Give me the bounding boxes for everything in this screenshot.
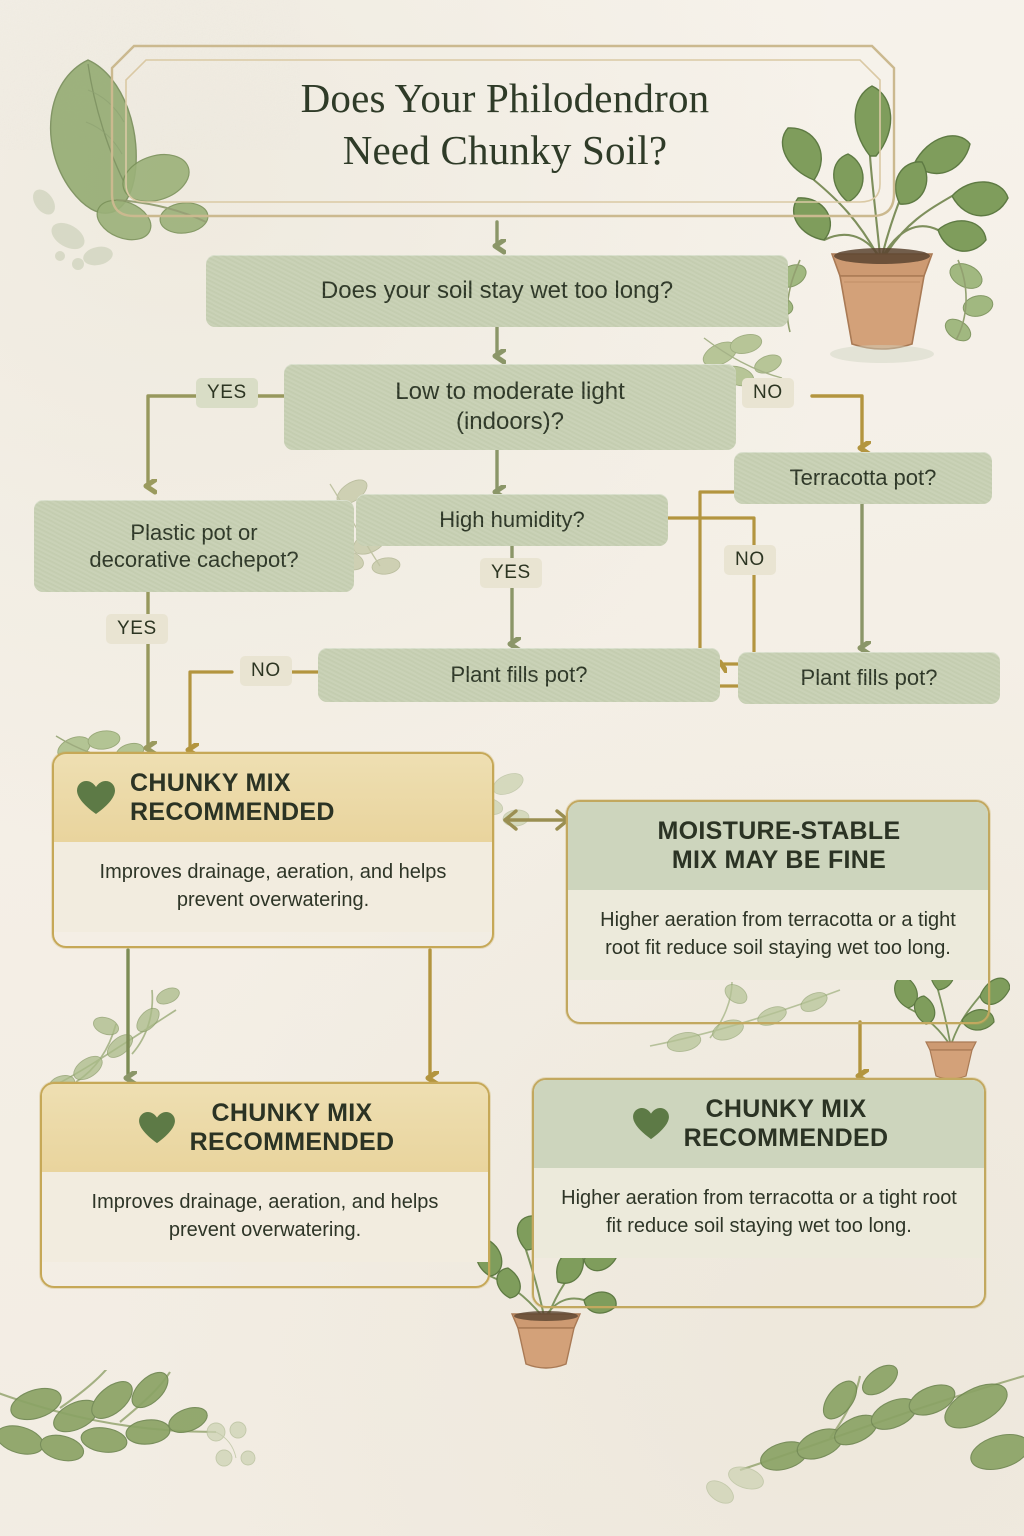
- decision-node-soil-wet-label: Does your soil stay wet too long?: [321, 276, 673, 306]
- decision-node-plastic-cachepot[interactable]: Plastic pot or decorative cachepot?: [34, 500, 354, 592]
- result-card-moisture-stable[interactable]: MOISTURE-STABLE MIX MAY BE FINE Higher a…: [566, 800, 990, 1024]
- edge-label-yes-light-text: YES: [207, 382, 247, 404]
- decision-node-light-label-line1: Low to moderate light: [395, 377, 624, 407]
- heart-icon: [76, 780, 116, 816]
- result-card-moisture-stable-title: MOISTURE-STABLE MIX MAY BE FINE: [658, 817, 901, 876]
- decision-node-plant-fills-pot-right-label: Plant fills pot?: [801, 664, 938, 692]
- result-title-line-2: RECOMMENDED: [190, 1128, 395, 1157]
- decision-node-terracotta-pot[interactable]: Terracotta pot?: [734, 452, 992, 504]
- edge-label-no-plant-fills: NO: [240, 656, 292, 686]
- result-card-chunky-mix-bottom-right-title: CHUNKY MIX RECOMMENDED: [684, 1095, 889, 1154]
- decision-node-plant-fills-pot-left-label: Plant fills pot?: [451, 661, 588, 689]
- edge-label-yes-cachepot: YES: [106, 614, 168, 644]
- edge-label-no-humidity-text: NO: [735, 549, 765, 571]
- page-title: Does Your Philodendron Need Chunky Soil?: [130, 72, 880, 177]
- botanical-bottom-right: [680, 1360, 1024, 1536]
- result-card-chunky-mix-primary[interactable]: CHUNKY MIX RECOMMENDED Improves drainage…: [52, 752, 494, 948]
- decision-node-plant-fills-pot-right[interactable]: Plant fills pot?: [738, 652, 1000, 704]
- result-card-chunky-mix-bottom-left[interactable]: CHUNKY MIX RECOMMENDED Improves drainage…: [40, 1082, 490, 1288]
- decision-node-plastic-cachepot-label-line2: decorative cachepot?: [89, 546, 298, 574]
- edge-label-no-humidity: NO: [724, 545, 776, 575]
- result-card-chunky-mix-primary-header: CHUNKY MIX RECOMMENDED: [54, 754, 492, 842]
- result-card-chunky-mix-bottom-left-title: CHUNKY MIX RECOMMENDED: [190, 1099, 395, 1158]
- edge-label-yes-humidity: YES: [480, 558, 542, 588]
- heart-icon: [632, 1107, 670, 1141]
- result-card-chunky-mix-bottom-right-header: CHUNKY MIX RECOMMENDED: [534, 1080, 984, 1168]
- result-card-chunky-mix-bottom-right-body: Higher aeration from terracotta or a tig…: [534, 1168, 984, 1259]
- infographic-page: Does Your Philodendron Need Chunky Soil?: [0, 0, 1024, 1536]
- result-card-moisture-stable-body: Higher aeration from terracotta or a tig…: [568, 890, 988, 981]
- result-title-line-1: CHUNKY MIX: [684, 1095, 889, 1124]
- result-card-chunky-mix-primary-body: Improves drainage, aeration, and helps p…: [54, 842, 492, 933]
- decision-node-soil-wet[interactable]: Does your soil stay wet too long?: [206, 255, 788, 327]
- result-title-line-1: CHUNKY MIX: [190, 1099, 395, 1128]
- edge-label-yes-light: YES: [196, 378, 258, 408]
- result-title-line-1: MOISTURE-STABLE: [658, 817, 901, 846]
- decision-node-plastic-cachepot-label-line1: Plastic pot or: [130, 519, 257, 547]
- result-card-chunky-mix-bottom-left-body: Improves drainage, aeration, and helps p…: [42, 1172, 488, 1263]
- decision-node-terracotta-pot-label: Terracotta pot?: [790, 464, 937, 492]
- edge-label-yes-humidity-text: YES: [491, 562, 531, 584]
- result-title-line-2: MIX MAY BE FINE: [658, 846, 901, 875]
- result-title-line-2: RECOMMENDED: [130, 798, 335, 827]
- result-card-chunky-mix-bottom-right[interactable]: CHUNKY MIX RECOMMENDED Higher aeration f…: [532, 1078, 986, 1308]
- edge-label-no-light: NO: [742, 378, 794, 408]
- decision-node-high-humidity[interactable]: High humidity?: [356, 494, 668, 546]
- page-title-line-2: Need Chunky Soil?: [130, 124, 880, 176]
- edge-label-no-plant-fills-text: NO: [251, 660, 281, 682]
- decision-node-light[interactable]: Low to moderate light (indoors)?: [284, 364, 736, 450]
- botanical-bottom-left: [0, 1370, 400, 1536]
- result-card-moisture-stable-header: MOISTURE-STABLE MIX MAY BE FINE: [568, 802, 988, 890]
- decision-node-high-humidity-label: High humidity?: [439, 506, 585, 534]
- result-card-chunky-mix-primary-title: CHUNKY MIX RECOMMENDED: [130, 769, 335, 828]
- decision-node-plant-fills-pot-left[interactable]: Plant fills pot?: [318, 648, 720, 702]
- result-card-chunky-mix-bottom-left-header: CHUNKY MIX RECOMMENDED: [42, 1084, 488, 1172]
- result-title-line-2: RECOMMENDED: [684, 1124, 889, 1153]
- decision-node-light-label-line2: (indoors)?: [456, 407, 564, 437]
- heart-icon: [138, 1111, 176, 1145]
- page-title-line-1: Does Your Philodendron: [130, 72, 880, 124]
- result-title-line-1: CHUNKY MIX: [130, 769, 335, 798]
- edge-label-yes-cachepot-text: YES: [117, 618, 157, 640]
- edge-label-no-light-text: NO: [753, 382, 783, 404]
